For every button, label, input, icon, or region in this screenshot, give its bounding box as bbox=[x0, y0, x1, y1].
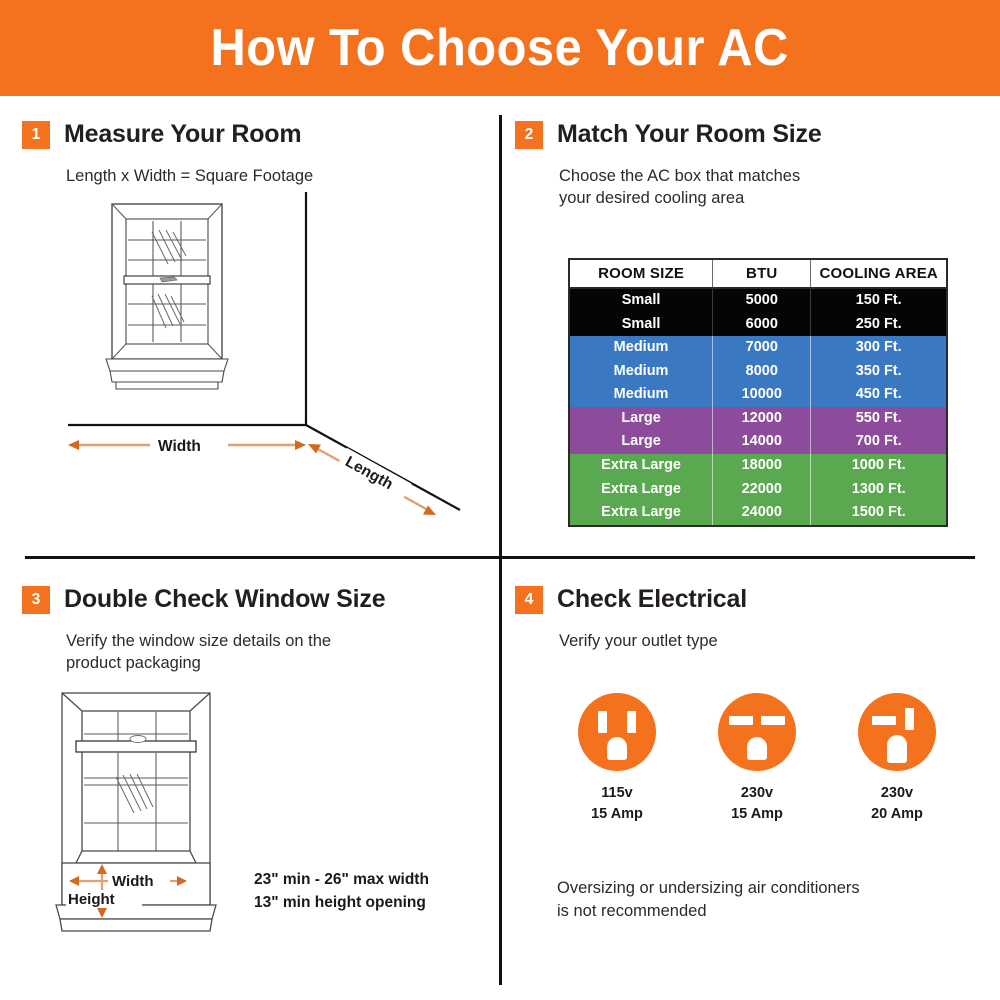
step-4-title: Check Electrical bbox=[557, 585, 747, 614]
ground-pin bbox=[887, 735, 907, 763]
outlet-option-115v-15amp[interactable]: 115v 15 Amp bbox=[557, 693, 677, 825]
step-panel-check-electrical: 4 Check Electrical Verify your outlet ty… bbox=[515, 585, 985, 980]
cell-area: 700 Ft. bbox=[811, 430, 947, 454]
table-row: Large12000550 Ft. bbox=[569, 407, 947, 431]
page-header: How To Choose Your AC bbox=[0, 0, 1000, 96]
ac-sizing-table: ROOM SIZE BTU COOLING AREA Small5000150 … bbox=[568, 258, 948, 527]
outlet-voltage-3: 230v bbox=[871, 783, 923, 804]
cell-btu: 10000 bbox=[713, 383, 811, 407]
slot-left-horizontal bbox=[872, 716, 896, 725]
outlet-amperage-3: 20 Amp bbox=[871, 804, 923, 825]
step-1-header: 1 Measure Your Room bbox=[22, 120, 492, 149]
outlet-amperage-1: 15 Amp bbox=[591, 804, 643, 825]
outlet-label-1: 115v 15 Amp bbox=[591, 783, 643, 825]
step-2-header: 2 Match Your Room Size bbox=[515, 120, 985, 149]
cell-btu: 18000 bbox=[713, 454, 811, 478]
step-4-subtitle: Verify your outlet type bbox=[559, 630, 985, 652]
cell-room: Small bbox=[569, 313, 713, 337]
cell-area: 150 Ft. bbox=[811, 288, 947, 313]
width-label: Width bbox=[158, 438, 201, 455]
cell-area: 300 Ft. bbox=[811, 336, 947, 360]
step-3-subtitle: Verify the window size details on the pr… bbox=[66, 630, 492, 675]
cell-room: Medium bbox=[569, 360, 713, 384]
table-row: Large14000700 Ft. bbox=[569, 430, 947, 454]
width-dimension-arrow: Width bbox=[68, 435, 306, 455]
cell-room: Medium bbox=[569, 336, 713, 360]
step-panel-match-your-room-size: 2 Match Your Room Size Choose the AC box… bbox=[515, 120, 985, 540]
ground-pin bbox=[607, 737, 627, 760]
step-3-header: 3 Double Check Window Size bbox=[22, 585, 492, 614]
step-number-badge-2: 2 bbox=[515, 121, 543, 149]
step-2-subtitle: Choose the AC box that matches your desi… bbox=[559, 165, 985, 210]
vertical-divider bbox=[499, 115, 502, 985]
column-header-btu: BTU bbox=[713, 259, 811, 288]
window-measurement-svg: Width Height bbox=[52, 685, 252, 945]
step-panel-double-check-window-size: 3 Double Check Window Size Verify the wi… bbox=[22, 585, 492, 980]
outlet-option-230v-15amp[interactable]: 230v 15 Amp bbox=[697, 693, 817, 825]
outlet-type-list: 115v 15 Amp 230v 15 Amp bbox=[557, 693, 957, 825]
step-number-badge-1: 1 bbox=[22, 121, 50, 149]
column-header-cooling-area: COOLING AREA bbox=[811, 259, 947, 288]
outlet-voltage-1: 115v bbox=[591, 783, 643, 804]
cell-area: 350 Ft. bbox=[811, 360, 947, 384]
outlet-voltage-2: 230v bbox=[731, 783, 783, 804]
cell-area: 1300 Ft. bbox=[811, 478, 947, 502]
cell-btu: 6000 bbox=[713, 313, 811, 337]
length-dimension-arrow: Length bbox=[308, 444, 436, 515]
table-body: Small5000150 Ft.Small6000250 Ft.Medium70… bbox=[569, 288, 947, 526]
cell-room: Medium bbox=[569, 383, 713, 407]
cell-btu: 8000 bbox=[713, 360, 811, 384]
cell-area: 1000 Ft. bbox=[811, 454, 947, 478]
outlet-label-3: 230v 20 Amp bbox=[871, 783, 923, 825]
slot-left bbox=[729, 716, 753, 725]
window-dimension-note: 23" min - 26" max width 13" min height o… bbox=[254, 868, 429, 915]
table-row: Medium7000300 Ft. bbox=[569, 336, 947, 360]
cell-room: Large bbox=[569, 430, 713, 454]
table-header-row: ROOM SIZE BTU COOLING AREA bbox=[569, 259, 947, 288]
step-1-title: Measure Your Room bbox=[64, 120, 301, 149]
outlet-icon-two-vertical-slots bbox=[578, 693, 656, 771]
outlet-option-230v-20amp[interactable]: 230v 20 Amp bbox=[837, 693, 957, 825]
slot-left bbox=[598, 711, 607, 733]
window-height-label: Height bbox=[68, 891, 115, 908]
slot-right bbox=[627, 711, 636, 733]
cell-room: Large bbox=[569, 407, 713, 431]
infographic-page: How To Choose Your AC 1 Measure Your Roo… bbox=[0, 0, 1000, 1000]
table-row: Medium8000350 Ft. bbox=[569, 360, 947, 384]
step-number-badge-4: 4 bbox=[515, 586, 543, 614]
cell-area: 1500 Ft. bbox=[811, 501, 947, 526]
step-number-badge-3: 3 bbox=[22, 586, 50, 614]
slot-right bbox=[761, 716, 785, 725]
cell-btu: 14000 bbox=[713, 430, 811, 454]
outlet-icon-two-horizontal-slots bbox=[718, 693, 796, 771]
cell-room: Extra Large bbox=[569, 501, 713, 526]
step-2-title: Match Your Room Size bbox=[557, 120, 822, 149]
cell-room: Small bbox=[569, 288, 713, 313]
table-row: Medium10000450 Ft. bbox=[569, 383, 947, 407]
slot-right-vertical bbox=[905, 708, 914, 730]
cell-room: Extra Large bbox=[569, 454, 713, 478]
cell-btu: 22000 bbox=[713, 478, 811, 502]
cell-btu: 12000 bbox=[713, 407, 811, 431]
oversizing-warning-note: Oversizing or undersizing air conditione… bbox=[557, 877, 957, 923]
ground-pin bbox=[747, 737, 767, 760]
cell-btu: 7000 bbox=[713, 336, 811, 360]
table-row: Small5000150 Ft. bbox=[569, 288, 947, 313]
step-3-title: Double Check Window Size bbox=[64, 585, 385, 614]
dimension-note-line-1: 23" min - 26" max width bbox=[254, 868, 429, 891]
table-row: Small6000250 Ft. bbox=[569, 313, 947, 337]
table-row: Extra Large180001000 Ft. bbox=[569, 454, 947, 478]
cell-btu: 5000 bbox=[713, 288, 811, 313]
table-row: Extra Large240001500 Ft. bbox=[569, 501, 947, 526]
window-width-label: Width bbox=[112, 873, 154, 890]
table-row: Extra Large220001300 Ft. bbox=[569, 478, 947, 502]
dimension-note-line-2: 13" min height opening bbox=[254, 891, 429, 914]
cell-area: 250 Ft. bbox=[811, 313, 947, 337]
outlet-amperage-2: 15 Amp bbox=[731, 804, 783, 825]
outlet-label-2: 230v 15 Amp bbox=[731, 783, 783, 825]
cell-btu: 24000 bbox=[713, 501, 811, 526]
step-4-header: 4 Check Electrical bbox=[515, 585, 985, 614]
column-header-room-size: ROOM SIZE bbox=[569, 259, 713, 288]
cell-room: Extra Large bbox=[569, 478, 713, 502]
page-title: How To Choose Your AC bbox=[211, 18, 789, 78]
step-panel-measure-your-room: 1 Measure Your Room Length x Width = Squ… bbox=[22, 120, 492, 540]
window-illustration bbox=[106, 204, 228, 389]
window-measurement-diagram: Width Height bbox=[52, 685, 252, 950]
cell-area: 550 Ft. bbox=[811, 407, 947, 431]
outlet-icon-horizontal-and-vertical-slot bbox=[858, 693, 936, 771]
room-corner-diagram: Width Length bbox=[40, 192, 490, 537]
step-1-subtitle: Length x Width = Square Footage bbox=[66, 165, 492, 187]
room-corner-svg: Width Length bbox=[40, 192, 490, 532]
cell-area: 450 Ft. bbox=[811, 383, 947, 407]
